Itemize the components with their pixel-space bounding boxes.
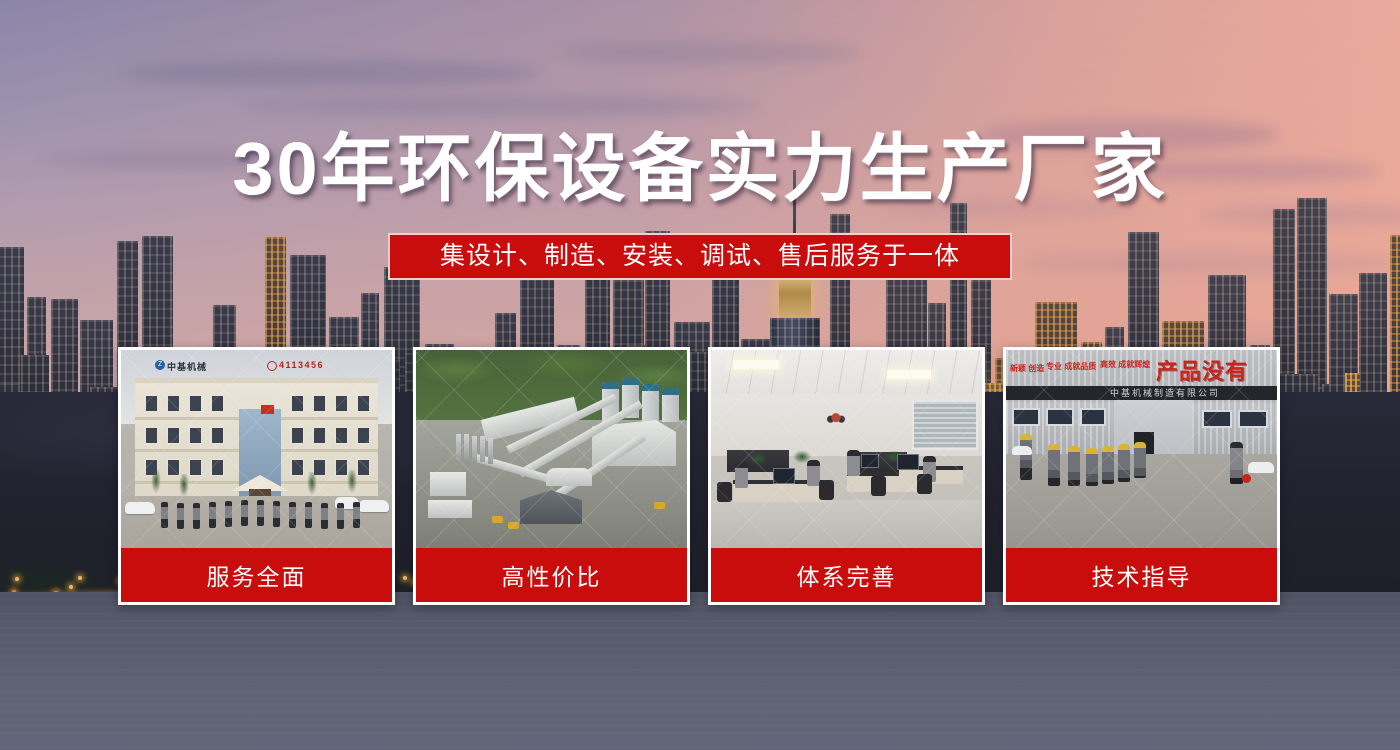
- company-phone-number: 4113456: [279, 360, 324, 370]
- window-blinds: [912, 400, 978, 450]
- feature-card-service[interactable]: Z 中基机械 4113456: [118, 347, 395, 605]
- office-building: [135, 378, 378, 501]
- feature-card-caption: 技术指导: [1006, 548, 1277, 602]
- factory-small-slogan: 专业 成就品质: [1046, 362, 1096, 371]
- feature-card-value[interactable]: 高性价比: [413, 347, 690, 605]
- factory-wall-slogan: 产品没有: [1156, 354, 1248, 386]
- feature-card-list: Z 中基机械 4113456: [118, 347, 1280, 605]
- flag: [261, 405, 274, 414]
- phone-icon: [267, 361, 277, 371]
- feature-card-caption: 服务全面: [121, 548, 392, 602]
- office-team-photo: [711, 350, 982, 548]
- ceiling-light: [733, 360, 779, 369]
- subtitle-banner: 集设计、制造、安装、调试、售后服务于一体: [388, 233, 1012, 280]
- feature-card-system[interactable]: 体系完善: [708, 347, 985, 605]
- factory-small-slogan: 新颖 创造: [1010, 364, 1044, 373]
- banner-content: 30年环保设备实力生产厂家 集设计、制造、安装、调试、售后服务于一体: [0, 0, 1400, 750]
- ceiling-grid: [711, 350, 982, 398]
- company-headquarters-photo: Z 中基机械 4113456: [121, 350, 392, 548]
- feature-card-caption: 体系完善: [711, 548, 982, 602]
- feature-card-caption: 高性价比: [416, 548, 687, 602]
- office-floor: [711, 500, 982, 548]
- wall-decal: [819, 402, 853, 428]
- page-title: 30年环保设备实力生产厂家: [0, 129, 1400, 209]
- feature-card-guidance[interactable]: 产品没有 新颖 创造 专业 成就品质 高效 成就辉煌 中基机械制造有限公司: [1003, 347, 1280, 605]
- ceiling-light: [887, 370, 931, 379]
- production-plant-aerial-photo: [416, 350, 687, 548]
- banner-stage: 30年环保设备实力生产厂家 集设计、制造、安装、调试、售后服务于一体: [0, 0, 1400, 750]
- company-sign-text: 中基机械: [167, 360, 207, 373]
- factory-small-slogan: 高效 成就辉煌: [1100, 360, 1150, 369]
- facade-band-text: 中基机械制造有限公司: [1110, 386, 1220, 400]
- factory-workers-training-photo: 产品没有 新颖 创造 专业 成就品质 高效 成就辉煌 中基机械制造有限公司: [1006, 350, 1277, 548]
- company-logo-icon: Z: [155, 360, 165, 370]
